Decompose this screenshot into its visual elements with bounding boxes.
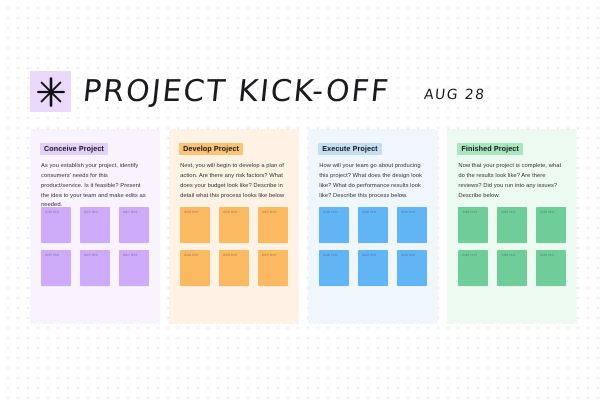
sticky-note[interactable]: Add text	[180, 207, 210, 243]
sticky-note[interactable]: Add text	[119, 207, 149, 243]
columns-container: Conceive Project As you establish your p…	[30, 129, 577, 324]
sticky-note-placeholder: Add text	[323, 211, 337, 215]
sticky-note[interactable]: Add text	[80, 207, 110, 243]
sparkle-star-icon	[30, 71, 71, 112]
column-label-finished[interactable]: Finished Project	[457, 143, 523, 155]
sticky-note[interactable]: Add text	[497, 207, 527, 243]
column-finished[interactable]: Finished Project Now that your project i…	[447, 129, 577, 324]
sticky-note-placeholder: Add text	[84, 211, 98, 215]
sticky-note[interactable]: Add text	[258, 250, 288, 286]
sticky-note-placeholder: Add text	[45, 254, 59, 258]
sticky-note-placeholder: Add text	[184, 211, 198, 215]
sticky-notes-grid-develop: Add text Add text Add text Add text Add …	[180, 207, 288, 286]
sticky-note[interactable]: Add text	[180, 250, 210, 286]
sticky-note-placeholder: Add text	[323, 254, 337, 258]
sticky-note-placeholder: Add text	[362, 254, 376, 258]
column-description-develop: Next, you will begin to develop a plan o…	[180, 162, 287, 202]
sticky-note-placeholder: Add text	[540, 254, 554, 258]
sticky-note-placeholder: Add text	[184, 254, 198, 258]
sticky-note-placeholder: Add text	[540, 211, 554, 215]
sticky-note-placeholder: Add text	[401, 254, 415, 258]
sticky-note-placeholder: Add text	[223, 254, 237, 258]
sticky-note-placeholder: Add text	[262, 211, 276, 215]
column-label-conceive[interactable]: Conceive Project	[40, 143, 108, 155]
column-description-finished: Now that your project is complete, what …	[458, 162, 565, 202]
column-description-execute: How will your team go about producing th…	[319, 162, 426, 202]
sticky-note-placeholder: Add text	[45, 211, 59, 215]
sticky-note-placeholder: Add text	[501, 211, 515, 215]
sticky-note[interactable]: Add text	[319, 250, 349, 286]
sticky-notes-grid-conceive: Add text Add text Add text Add text Add …	[41, 207, 149, 286]
column-develop[interactable]: Develop Project Next, you will begin to …	[169, 129, 299, 324]
whiteboard-canvas: PROJECT KICK-OFF AUG 28 Conceive Project…	[0, 0, 606, 404]
board-header: PROJECT KICK-OFF AUG 28	[30, 71, 485, 112]
column-label-execute[interactable]: Execute Project	[318, 143, 381, 155]
sticky-note[interactable]: Add text	[497, 250, 527, 286]
sticky-notes-grid-execute: Add text Add text Add text Add text Add …	[319, 207, 427, 286]
sticky-note[interactable]: Add text	[219, 207, 249, 243]
sticky-note[interactable]: Add text	[80, 250, 110, 286]
sticky-note[interactable]: Add text	[219, 250, 249, 286]
sticky-note-placeholder: Add text	[123, 211, 137, 215]
sticky-note[interactable]: Add text	[397, 207, 427, 243]
sticky-note-placeholder: Add text	[84, 254, 98, 258]
sticky-note[interactable]: Add text	[358, 207, 388, 243]
sticky-notes-grid-finished: Add text Add text Add text Add text Add …	[458, 207, 566, 286]
board-date: AUG 28	[423, 87, 486, 103]
sticky-note[interactable]: Add text	[358, 250, 388, 286]
page-title: PROJECT KICK-OFF	[81, 77, 391, 107]
sticky-note[interactable]: Add text	[41, 207, 71, 243]
column-label-develop[interactable]: Develop Project	[179, 143, 243, 155]
sticky-note-placeholder: Add text	[501, 254, 515, 258]
sticky-note[interactable]: Add text	[319, 207, 349, 243]
sticky-note-placeholder: Add text	[223, 211, 237, 215]
column-description-conceive: As you establish your project, identify …	[41, 162, 148, 212]
sticky-note[interactable]: Add text	[397, 250, 427, 286]
sticky-note-placeholder: Add text	[462, 254, 476, 258]
sticky-note[interactable]: Add text	[258, 207, 288, 243]
sticky-note[interactable]: Add text	[41, 250, 71, 286]
sticky-note[interactable]: Add text	[536, 207, 566, 243]
sticky-note-placeholder: Add text	[462, 211, 476, 215]
column-execute[interactable]: Execute Project How will your team go ab…	[308, 129, 438, 324]
sticky-note[interactable]: Add text	[458, 207, 488, 243]
sticky-note[interactable]: Add text	[536, 250, 566, 286]
sticky-note-placeholder: Add text	[362, 211, 376, 215]
sticky-note-placeholder: Add text	[262, 254, 276, 258]
sticky-note[interactable]: Add text	[458, 250, 488, 286]
column-conceive[interactable]: Conceive Project As you establish your p…	[30, 129, 160, 324]
sticky-note-placeholder: Add text	[123, 254, 137, 258]
sticky-note-placeholder: Add text	[401, 211, 415, 215]
sticky-note[interactable]: Add text	[119, 250, 149, 286]
